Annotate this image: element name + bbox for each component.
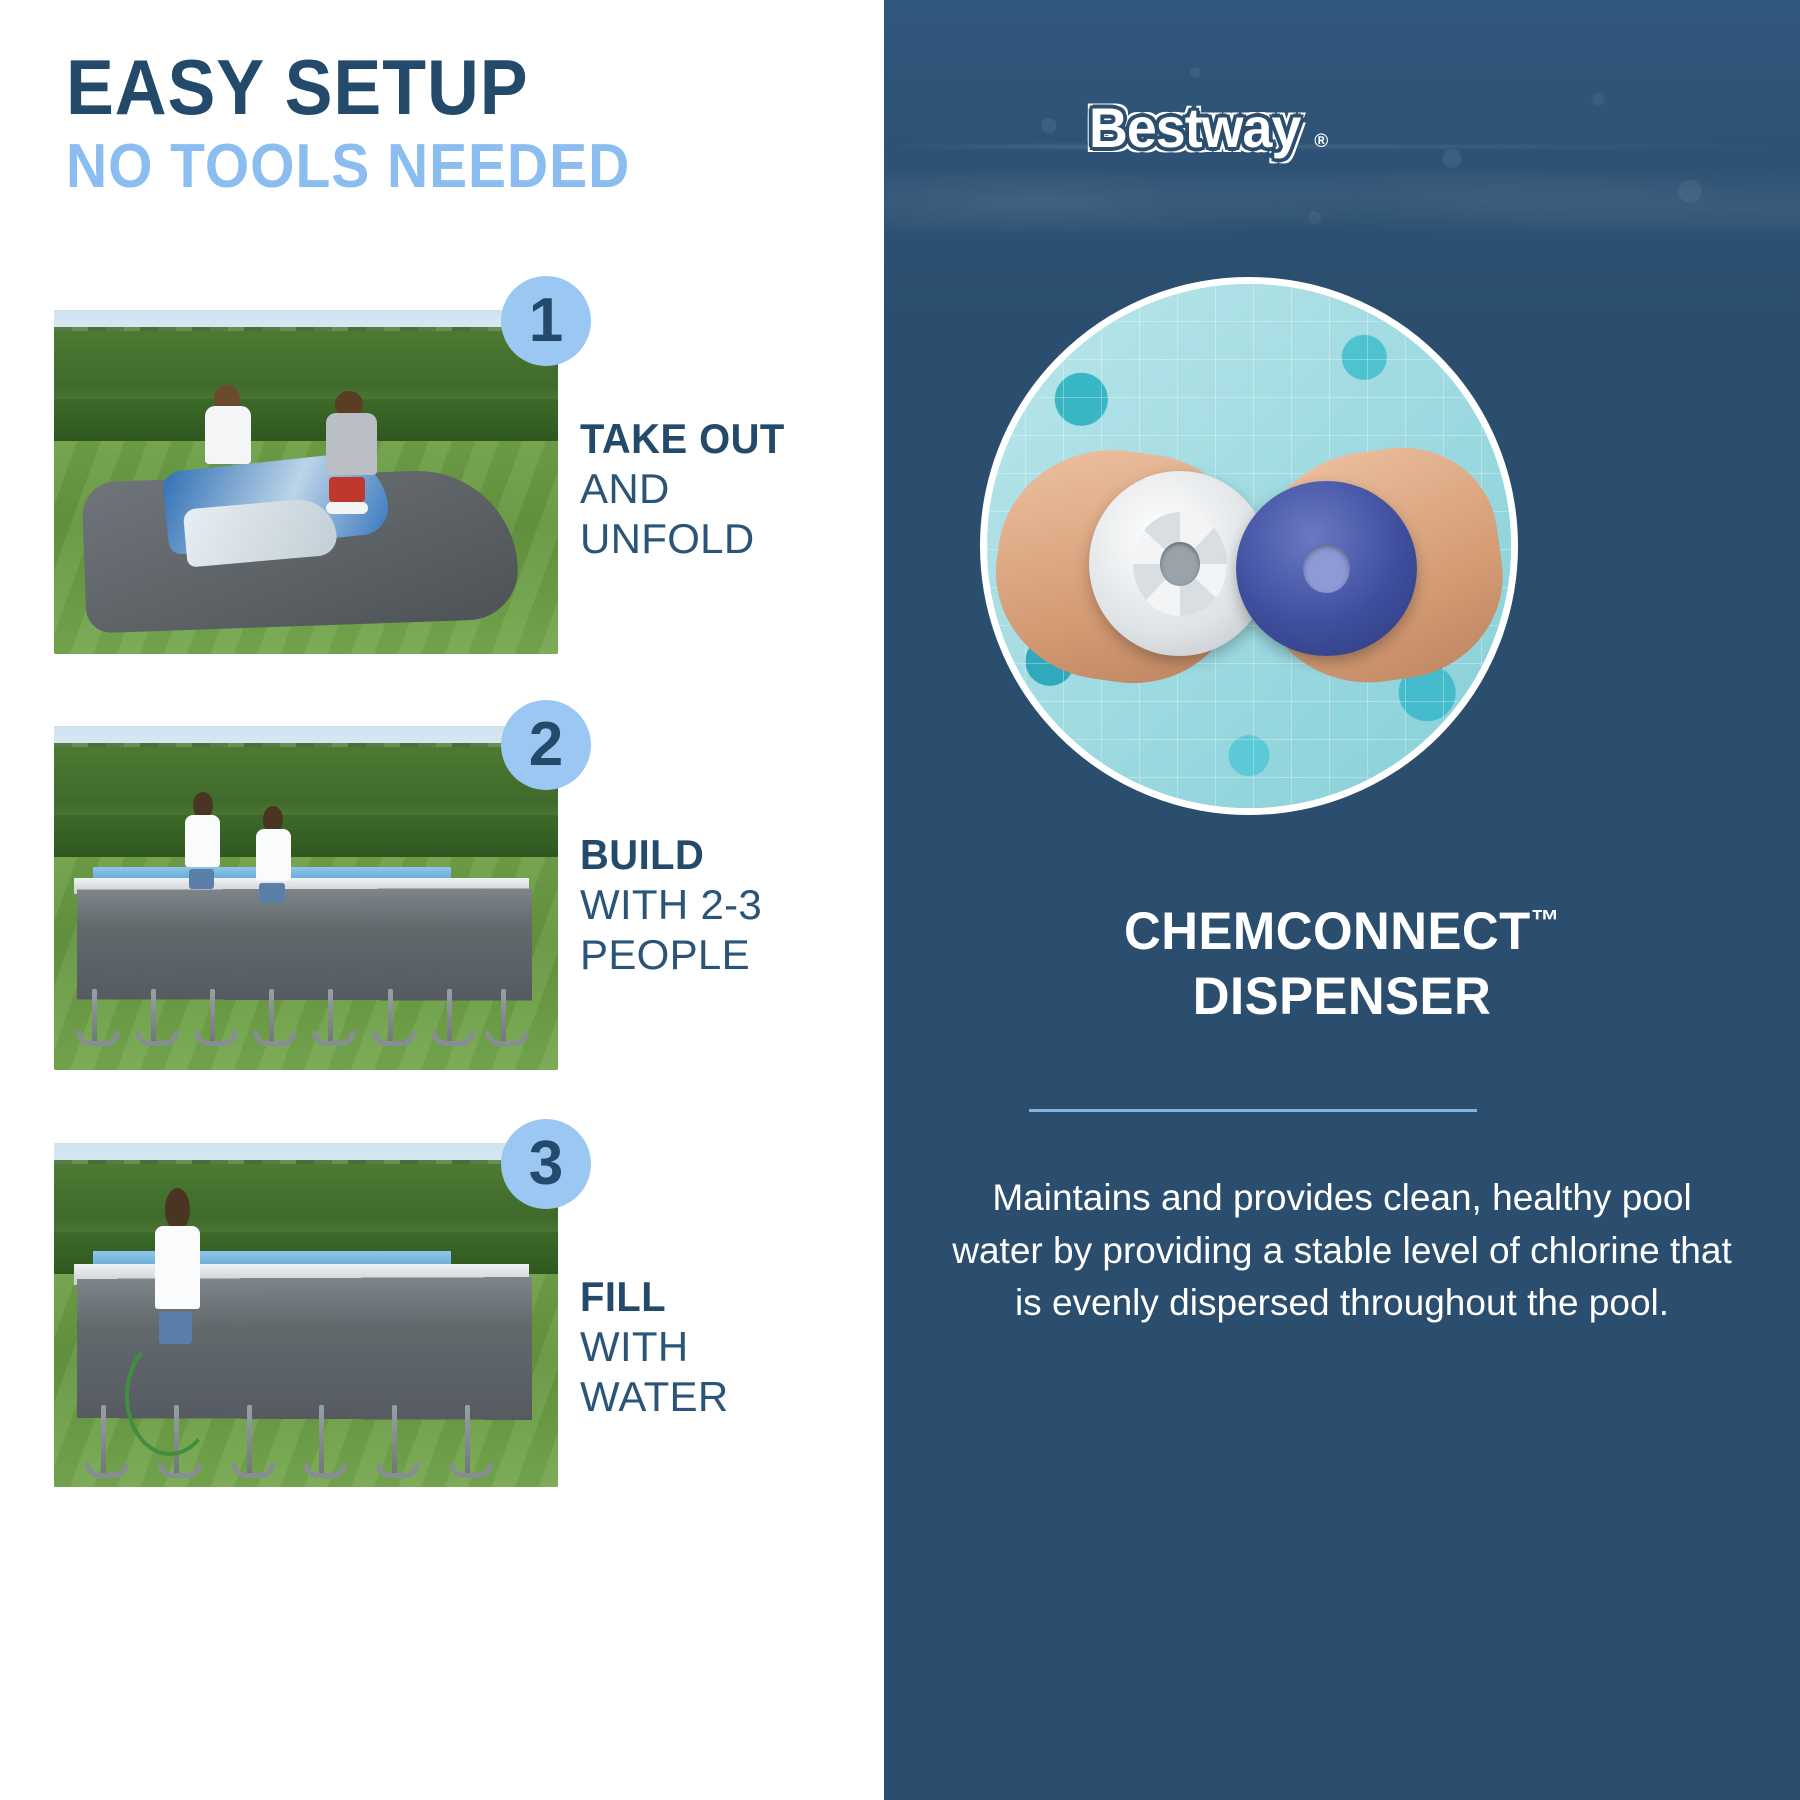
registered-trademark-icon: ® (1314, 131, 1328, 153)
step-1-title: TAKE OUT (580, 415, 865, 464)
product-description: Maintains and provides clean, healthy po… (944, 1172, 1740, 1330)
hedge (54, 815, 558, 860)
step-3-caption: FILL WITH WATER (580, 1273, 880, 1423)
headline-block: EASY SETUP NO TOOLS NEEDED (66, 50, 826, 199)
title-underline-rule (1029, 1109, 1477, 1112)
hands-holding-dispenser (1039, 431, 1459, 681)
bestway-logo-text: Bestway (1089, 95, 1300, 160)
garden-hose (125, 1336, 215, 1456)
trademark-icon: ™ (1531, 904, 1560, 937)
step-3-photo (54, 1143, 558, 1487)
water-texture-background (884, 0, 1800, 330)
child-girl (205, 406, 250, 495)
step-3-title: FILL (580, 1273, 865, 1322)
step-number-badge-3: 3 (501, 1119, 591, 1209)
product-title-line-2: DISPENSER (1193, 967, 1491, 1026)
step-number-badge-1: 1 (501, 276, 591, 366)
step-2-line-1: WITH 2-3 (580, 880, 880, 930)
product-title: CHEMCONNECT™ DISPENSER (902, 900, 1781, 1029)
step-1-photo (54, 310, 558, 654)
infographic-page: EASY SETUP NO TOOLS NEEDED 1 TAKE OUT AN… (0, 0, 1800, 1800)
bestway-logo: Bestway ® (1089, 95, 1389, 157)
child-boy (185, 815, 220, 904)
step-2-photo (54, 726, 558, 1070)
frame-pool (64, 864, 548, 1043)
dispenser-blue-half (1236, 481, 1417, 656)
step-2-line-2: PEOPLE (580, 930, 880, 980)
step-3-line-1: WITH (580, 1322, 880, 1372)
step-1-line-2: UNFOLD (580, 514, 880, 564)
step-2-title: BUILD (580, 831, 865, 880)
step-number-badge-2: 2 (501, 700, 591, 790)
step-2-caption: BUILD WITH 2-3 PEOPLE (580, 831, 880, 981)
product-feature-panel: Bestway ® CHEMCONNECT™ DISPENSER Maintai… (884, 0, 1800, 1800)
step-3-line-2: WATER (580, 1372, 880, 1422)
hedge (54, 399, 558, 444)
step-1-caption: TAKE OUT AND UNFOLD (580, 415, 880, 565)
chemconnect-dispenser-photo (980, 277, 1518, 815)
pool-legs (74, 989, 529, 1046)
step-1-line-1: AND (580, 464, 880, 514)
setup-steps-panel: EASY SETUP NO TOOLS NEEDED 1 TAKE OUT AN… (0, 0, 884, 1800)
child-girl (256, 829, 291, 918)
pool-wall (77, 888, 532, 1000)
product-title-line-1: CHEMCONNECT (1124, 902, 1531, 961)
page-title: EASY SETUP (66, 50, 765, 124)
child-boy (326, 413, 376, 516)
page-subtitle: NO TOOLS NEEDED (66, 134, 765, 199)
